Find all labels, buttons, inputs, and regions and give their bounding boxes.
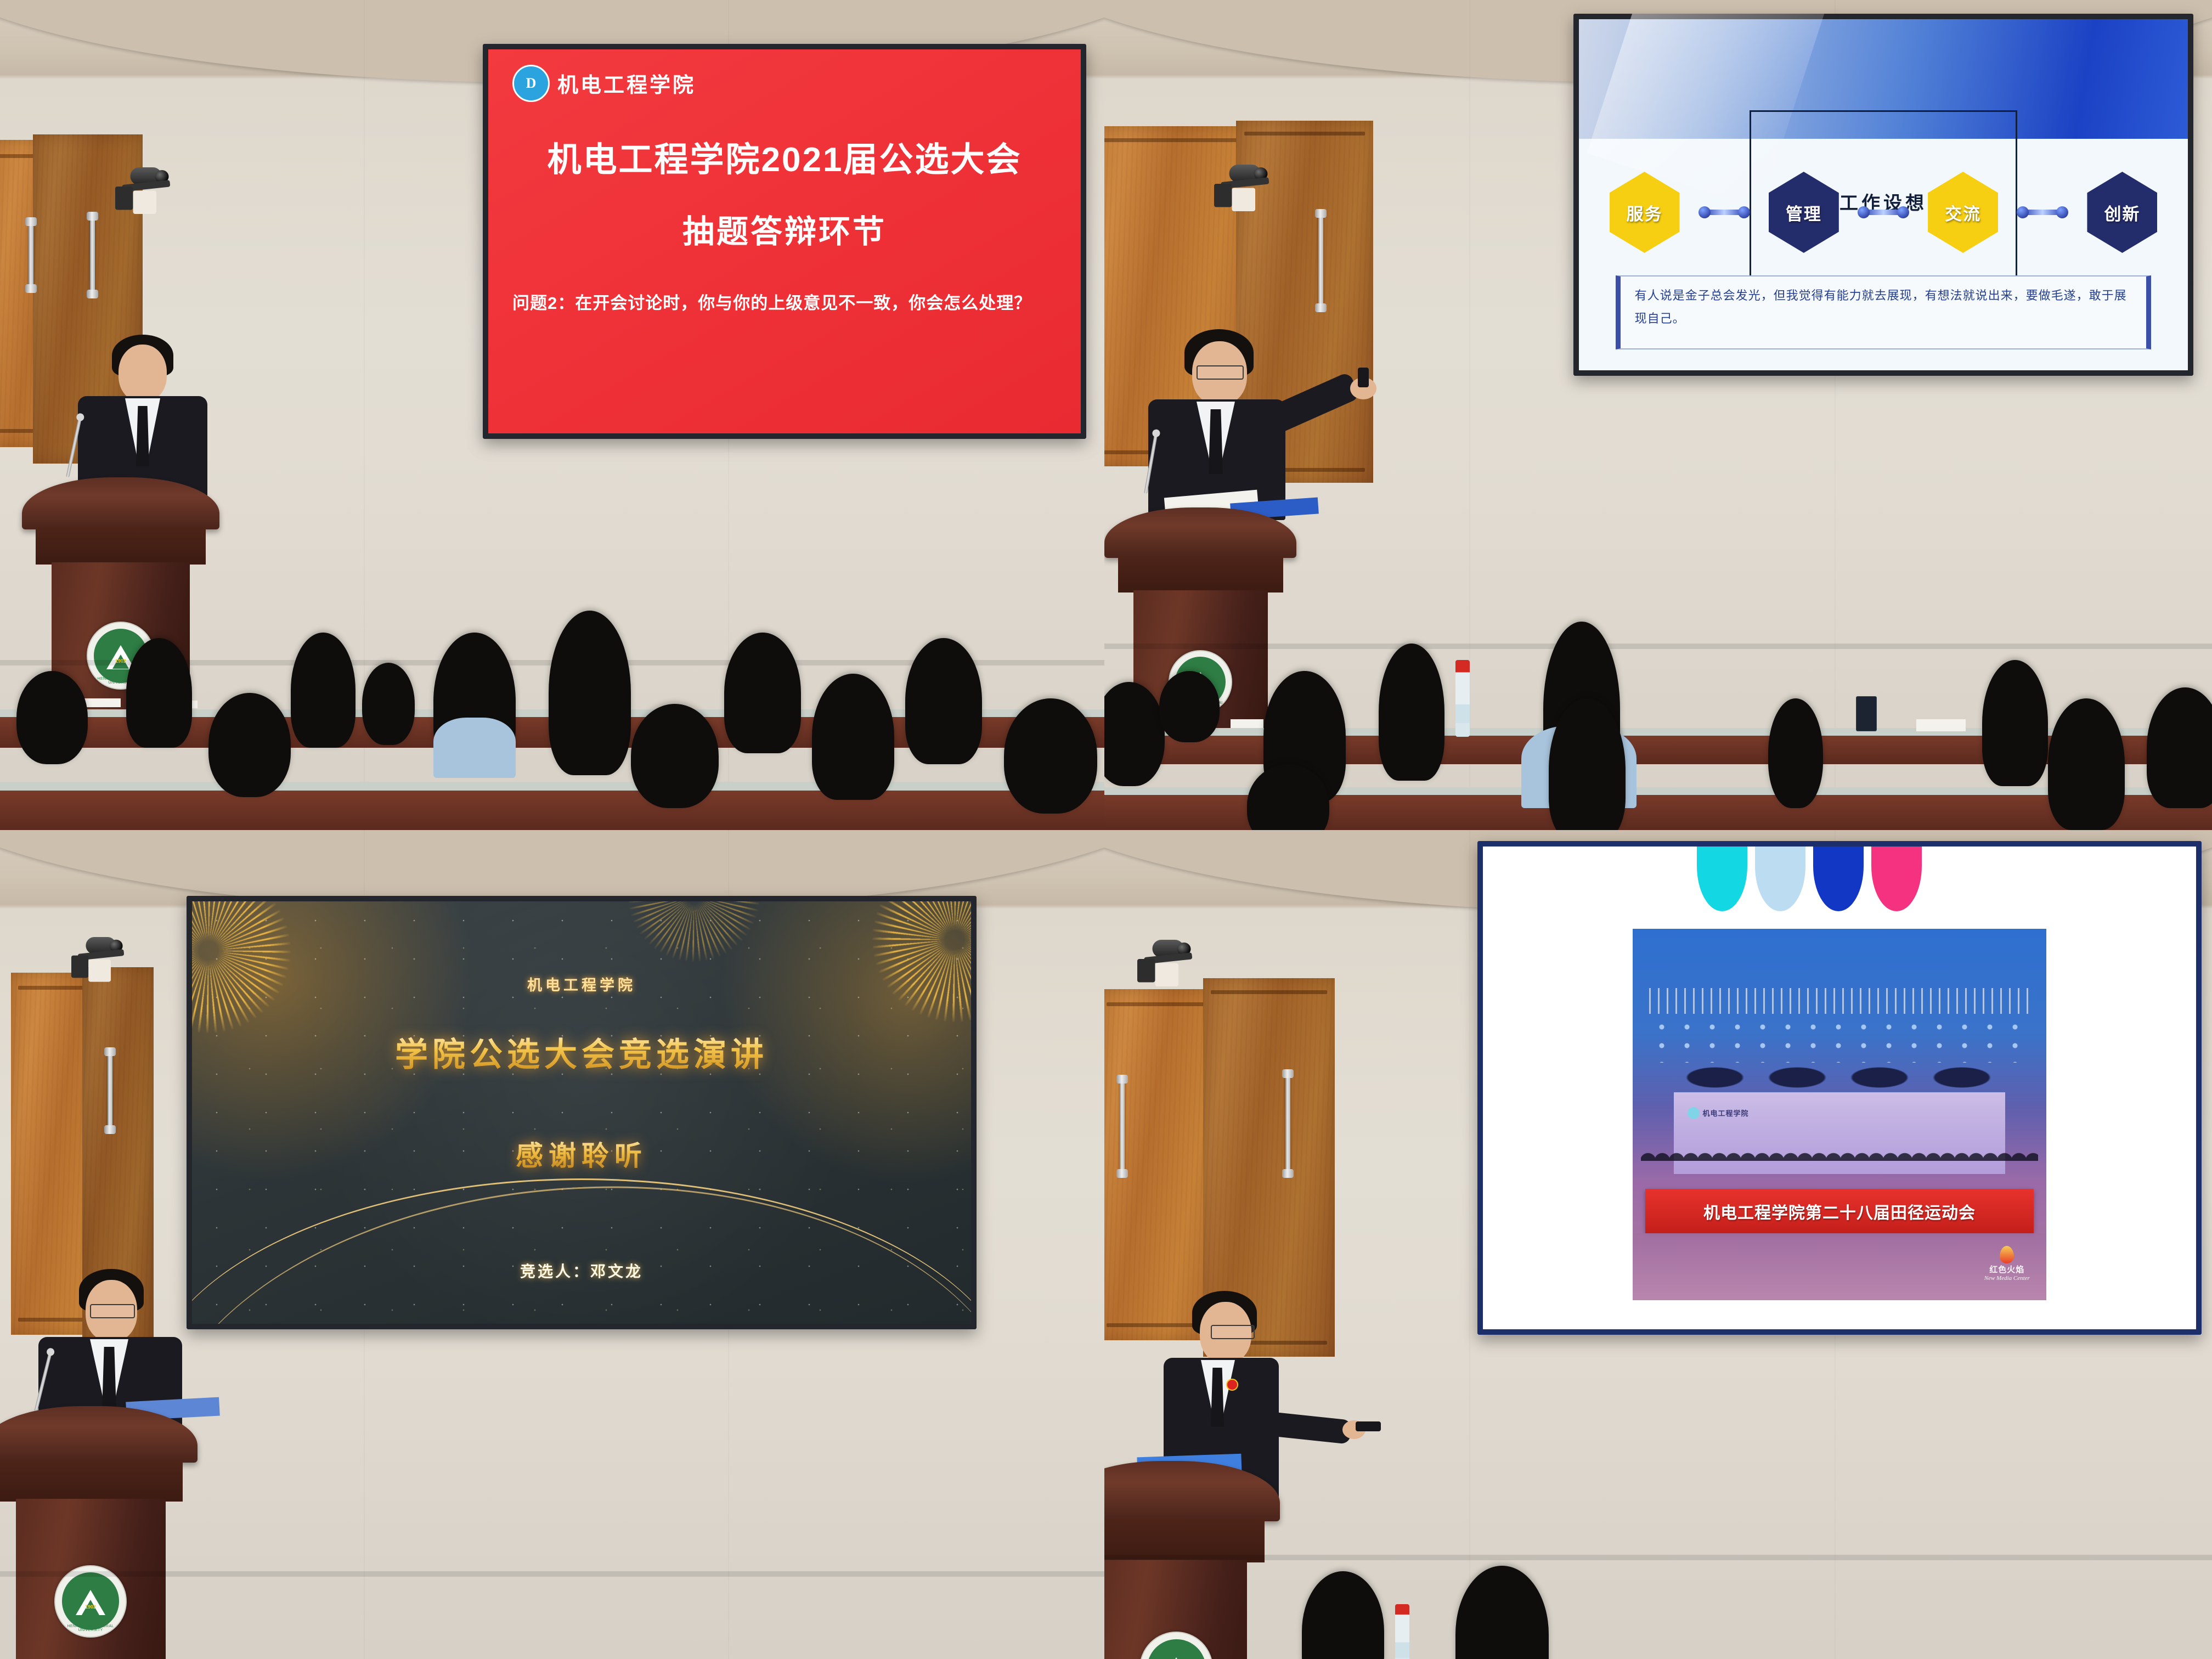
- podium: 1902 HENAN AGRICULTURAL UNIVERSITY: [0, 1406, 198, 1659]
- photo-collage: D 机电工程学院 机电工程学院2021届公选大会 抽题答辩环节 问题2：在开会讨…: [0, 0, 2212, 1659]
- photo-backdrop-logo: 机电工程学院: [1688, 1107, 1749, 1119]
- slide-red-title: D 机电工程学院 机电工程学院2021届公选大会 抽题答辩环节 问题2：在开会讨…: [488, 49, 1081, 433]
- audience-head: [2048, 698, 2125, 830]
- podium-neck: [0, 1460, 183, 1502]
- hexagon-communication: 交流: [1928, 172, 1998, 253]
- podium-column: 1902 HENAN AGRICULTURAL UNIVERSITY: [16, 1499, 166, 1659]
- drop-shape-cyan: [1697, 847, 1747, 911]
- slide-thanks-text: 感谢聆听: [192, 1134, 971, 1173]
- emblem-name-en: HENAN AGRICULTURAL UNIVERSITY: [55, 1624, 126, 1632]
- panel-top-left: D 机电工程学院 机电工程学院2021届公选大会 抽题答辩环节 问题2：在开会讨…: [0, 0, 1104, 830]
- eyeglasses-icon: [1197, 365, 1244, 380]
- audience-area: [1104, 633, 2212, 830]
- panel-bottom-left: 机电工程学院 学院公选大会竞选演讲 感谢聆听 竞选人：邓文龙: [0, 830, 1104, 1659]
- person-necktie: [1211, 1368, 1224, 1427]
- paper-sheet: [1231, 719, 1263, 728]
- podium-top: [1104, 507, 1296, 558]
- photo-stage-lights: [1649, 1018, 2030, 1062]
- audience-head: [1455, 1566, 1549, 1659]
- podium-neck: [36, 527, 206, 565]
- presentation-clicker: [1358, 368, 1369, 387]
- eyeglasses-icon: [90, 1304, 135, 1318]
- audience-head: [2147, 687, 2212, 808]
- door-handle: [1318, 211, 1323, 310]
- audience-head: [1768, 698, 1823, 808]
- person-necktie: [102, 1347, 116, 1412]
- photo-hanging-lamps: [1674, 1063, 2005, 1092]
- person-necktie: [1209, 409, 1223, 474]
- panel-top-right: 工作设想 服务 管理 交流 创新 有人说是金子总会发光，但我觉得有能力就去展现，…: [1104, 0, 2212, 830]
- audience-area: [1104, 1571, 2212, 1659]
- backdrop-logo-text: 机电工程学院: [1703, 1108, 1749, 1118]
- hexagon-management: 管理: [1769, 172, 1839, 253]
- slide-title: 机电工程学院2021届公选大会: [512, 132, 1057, 181]
- slide-dark-closing: 机电工程学院 学院公选大会竞选演讲 感谢聆听 竞选人：邓文龙: [192, 901, 971, 1324]
- drop-shape-pink: [1871, 847, 1922, 911]
- hex-connector: [1864, 210, 1903, 215]
- water-bottle: [1395, 1604, 1409, 1659]
- photo-red-banner: 机电工程学院第二十八届田径运动会: [1645, 1189, 2034, 1233]
- audience-head: [208, 693, 291, 797]
- panel-bottom-right: 机电工程学院 机电工程学院第二十八届田径运动会 红色火焰 New Media C…: [1104, 830, 2212, 1659]
- audience-head: [812, 674, 894, 800]
- door-handle: [108, 1049, 112, 1132]
- projection-screen: 机电工程学院 机电工程学院第二十八届田径运动会 红色火焰 New Media C…: [1477, 841, 2202, 1335]
- slide-logo: D 机电工程学院: [512, 65, 1057, 102]
- stage-edge: [0, 1571, 1104, 1577]
- podium-top: [1104, 1461, 1280, 1521]
- emblem-year: 1902: [55, 1604, 126, 1610]
- audience-head: [1982, 660, 2048, 786]
- podium-neck: [1118, 556, 1283, 592]
- hexagon-innovation: 创新: [2087, 172, 2157, 253]
- audience-head: [1004, 698, 1097, 814]
- person-necktie: [136, 406, 149, 466]
- backdrop-logo-mark-icon: [1688, 1107, 1700, 1119]
- audience-head: [1302, 1571, 1384, 1659]
- smartphone: [1856, 696, 1877, 731]
- projection-screen: 机电工程学院 学院公选大会竞选演讲 感谢聆听 竞选人：邓文龙: [187, 896, 977, 1329]
- hexagon-row: 服务 管理 交流 创新: [1610, 160, 2158, 265]
- embedded-event-photo: 机电工程学院 机电工程学院第二十八届田径运动会 红色火焰 New Media C…: [1633, 929, 2046, 1301]
- door-handle: [1285, 1071, 1290, 1176]
- stage-edge: [1104, 1555, 2212, 1560]
- slide-body-textbox: 有人说是金子总会发光，但我觉得有能力就去展现，有想法就说出来，要做毛遂，敢于展现…: [1616, 275, 2152, 349]
- presentation-clicker: [1356, 1421, 1381, 1431]
- hex-connector: [2023, 210, 2062, 215]
- photo-banner-text: 机电工程学院第二十八届田径运动会: [1703, 1199, 1976, 1223]
- audience-head: [1104, 682, 1165, 786]
- hexagon-service: 服务: [1610, 172, 1680, 253]
- drop-shape-blue: [1813, 847, 1864, 911]
- podium-top: [0, 1406, 198, 1463]
- projection-screen: 工作设想 服务 管理 交流 创新 有人说是金子总会发光，但我觉得有能力就去展现，…: [1573, 14, 2193, 376]
- slide-subtitle: 抽题答辩环节: [512, 206, 1057, 252]
- person-head: [119, 345, 167, 402]
- door-handle: [29, 219, 33, 291]
- slide-white-photo: 机电工程学院 机电工程学院第二十八届田径运动会 红色火焰 New Media C…: [1483, 847, 2196, 1329]
- audience-head: [291, 633, 356, 748]
- audience-head: [631, 704, 719, 808]
- eyeglasses-icon: [1211, 1325, 1255, 1339]
- watermark-cn: 红色火焰: [1984, 1263, 2030, 1275]
- audience-head: [1159, 671, 1220, 742]
- audience-head: [905, 638, 982, 764]
- audience-head: [126, 638, 192, 748]
- slide-body-text: 有人说是金子总会发光，但我觉得有能力就去展现，有想法就说出来，要做毛遂，敢于展现…: [1635, 284, 2132, 330]
- audience-head: [1379, 644, 1444, 781]
- audience-head: [362, 663, 415, 745]
- audience-head: [549, 611, 631, 775]
- college-roundel-logo-icon: D: [512, 65, 550, 102]
- door-handle: [1120, 1077, 1125, 1176]
- projection-screen: D 机电工程学院 机电工程学院2021届公选大会 抽题答辩环节 问题2：在开会讨…: [483, 44, 1086, 439]
- audience-head: [16, 671, 88, 764]
- person-raised-arm: [1259, 371, 1361, 438]
- slide-presenter-line: 竞选人：邓文龙: [192, 1260, 971, 1282]
- slide-eyebrow: 机电工程学院: [192, 973, 971, 995]
- desk-surface: [0, 782, 1104, 791]
- drop-shape-light-blue: [1755, 847, 1805, 911]
- hex-connector: [1705, 210, 1743, 215]
- paper-sheet: [1916, 719, 1966, 731]
- speaker-person: [1132, 329, 1362, 516]
- slide-logo-text: 机电工程学院: [557, 68, 696, 98]
- watermark-en: New Media Center: [1984, 1275, 2030, 1282]
- slide-title: 学院公选大会竞选演讲: [192, 1028, 971, 1076]
- audience-head: [724, 633, 801, 753]
- paper-sheet: [82, 698, 121, 707]
- audience-blue-shirt: [433, 718, 516, 778]
- desk-row: [0, 789, 1104, 830]
- water-bottle: [1455, 660, 1470, 737]
- photo-ceiling-truss: [1649, 988, 2030, 1014]
- flame-icon: [2000, 1246, 2014, 1263]
- slide-blue-hex: 工作设想 服务 管理 交流 创新 有人说是金子总会发光，但我觉得有能力就去展现，…: [1579, 19, 2188, 370]
- party-badge-icon: [1226, 1379, 1238, 1391]
- audience-area: [0, 600, 1104, 830]
- photo-watermark: 红色火焰 New Media Center: [1984, 1246, 2030, 1282]
- door-handle: [90, 214, 95, 296]
- slide-question-text: 问题2：在开会讨论时，你与你的上级意见不一致，你会怎么处理？: [512, 290, 1057, 317]
- podium-top: [22, 477, 219, 529]
- decorative-drops: [1697, 847, 1922, 911]
